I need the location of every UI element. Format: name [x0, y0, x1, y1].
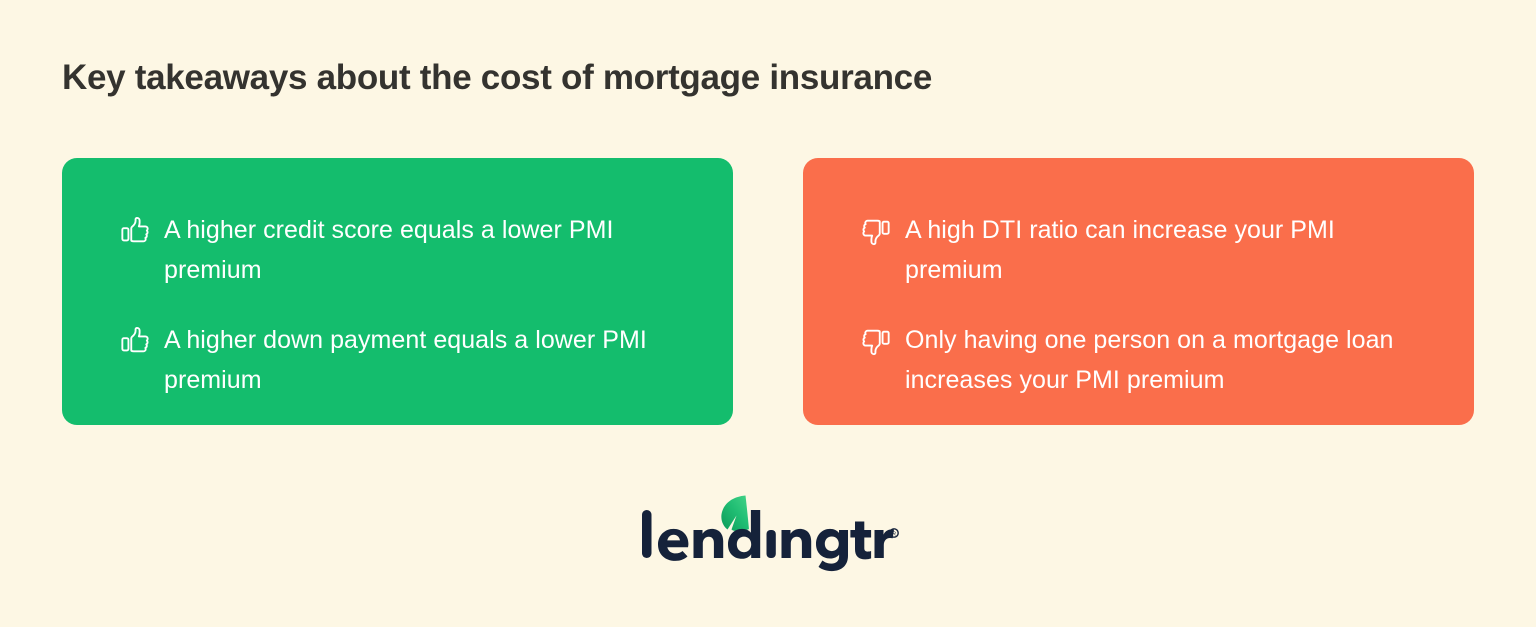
cons-list-item-text: Only having one person on a mortgage loa… — [905, 320, 1425, 400]
thumbs-down-icon — [861, 216, 891, 246]
pros-list-item-text: A higher credit score equals a lower PMI… — [164, 210, 684, 290]
brand-logo: R lendingtree — [0, 489, 1536, 581]
thumbs-up-icon — [120, 326, 150, 356]
pros-list-item: A higher down payment equals a lower PMI… — [120, 320, 693, 400]
lendingtree-wordmark — [642, 510, 894, 571]
infographic-canvas: Key takeaways about the cost of mortgage… — [0, 0, 1536, 627]
cons-list-item-text: A high DTI ratio can increase your PMI p… — [905, 210, 1425, 290]
cons-card: A high DTI ratio can increase your PMI p… — [803, 158, 1474, 425]
lendingtree-logo-mark: R lendingtree — [637, 491, 899, 579]
logo-wordmark-text: lendingtree — [637, 579, 638, 580]
registered-mark-icon: R — [890, 529, 898, 538]
thumbs-down-icon — [861, 326, 891, 356]
pros-card: A higher credit score equals a lower PMI… — [62, 158, 733, 425]
thumbs-up-icon — [120, 216, 150, 246]
leaf-icon — [721, 496, 749, 532]
page-title: Key takeaways about the cost of mortgage… — [62, 54, 1362, 102]
cons-list-item: A high DTI ratio can increase your PMI p… — [861, 210, 1434, 290]
svg-text:R: R — [892, 532, 896, 538]
cons-list-item: Only having one person on a mortgage loa… — [861, 320, 1434, 400]
takeaway-cards: A higher credit score equals a lower PMI… — [62, 158, 1474, 425]
pros-list-item: A higher credit score equals a lower PMI… — [120, 210, 693, 290]
pros-list-item-text: A higher down payment equals a lower PMI… — [164, 320, 684, 400]
